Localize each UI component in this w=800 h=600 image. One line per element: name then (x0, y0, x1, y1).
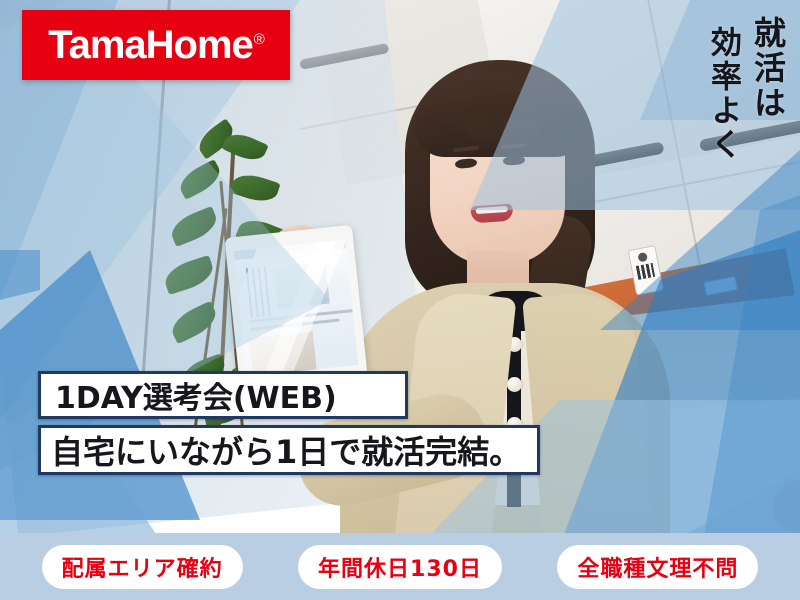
tablet-device (224, 225, 367, 390)
benefit-badge-majors: 全職種文理不問 (557, 545, 758, 589)
benefit-badge-area-label: 配属エリア確約 (62, 551, 223, 583)
bottom-benefits-bar: 配属エリア確約 年間休日130日 全職種文理不問 (0, 533, 800, 600)
person-subject (375, 55, 705, 600)
vertical-tagline-left: 効率よく (707, 26, 738, 162)
bangs (415, 73, 585, 157)
logo-wordmark: TamaHome (48, 23, 253, 67)
button-2 (507, 377, 522, 392)
tablet-screen (234, 239, 359, 376)
recruitment-banner: TamaHome® 就活は 効率よく 1DAY選考会(WEB) 自宅にいながら1… (0, 0, 800, 600)
caption-box-primary: 1DAY選考会(WEB) (38, 371, 408, 419)
tamahome-logo: TamaHome® (22, 10, 290, 80)
benefit-badge-area: 配属エリア確約 (42, 545, 243, 589)
logo-text: TamaHome® (48, 25, 264, 65)
benefit-badge-holidays-label: 年間休日130日 (318, 551, 482, 583)
vertical-tagline-right: 就活は (752, 16, 784, 121)
registered-trademark-icon: ® (254, 31, 264, 48)
background-photo (0, 0, 800, 600)
benefit-badge-majors-label: 全職種文理不問 (577, 551, 738, 583)
caption-box-secondary: 自宅にいながら1日で就活完結。 (38, 425, 540, 475)
caption-text-secondary: 自宅にいながら1日で就活完結。 (51, 427, 521, 473)
benefit-badge-holidays: 年間休日130日 (298, 545, 502, 589)
caption-text-primary: 1DAY選考会(WEB) (55, 373, 337, 417)
